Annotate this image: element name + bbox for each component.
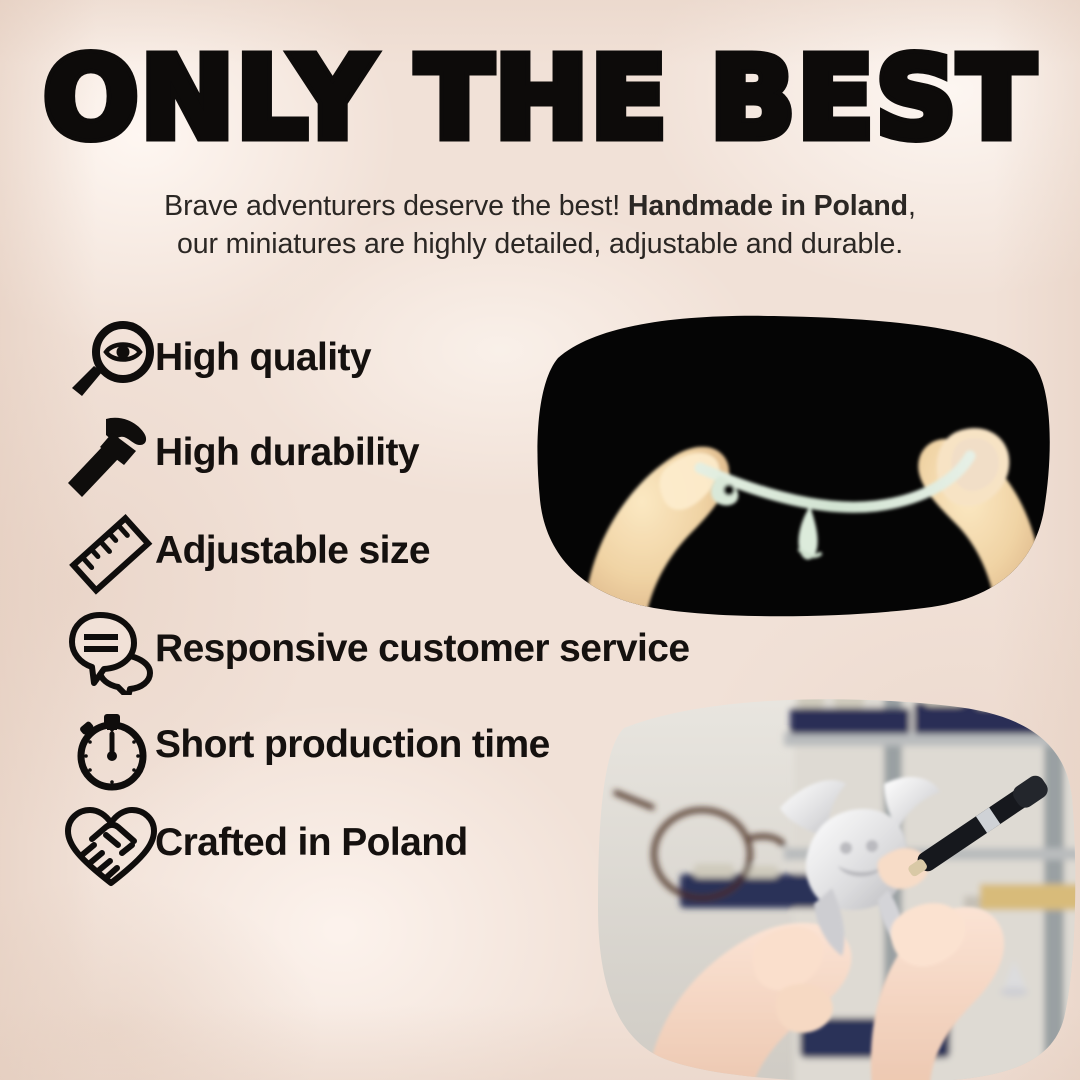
feature-item: High durability <box>0 415 800 512</box>
subtitle-line-1: Brave adventurers deserve the best! Hand… <box>60 187 1020 225</box>
feature-label: Responsive customer service <box>155 627 689 671</box>
feature-label: High quality <box>155 336 371 380</box>
subtitle-bold: Handmade in Poland <box>628 190 908 222</box>
feature-item: Crafted in Poland <box>0 803 800 900</box>
speech-bubbles-icon <box>66 611 160 695</box>
hammer-icon <box>62 413 158 501</box>
promo-poster: .hl{font-family:"DejaVu Sans", sans-seri… <box>0 0 1080 1080</box>
feature-item: Adjustable size <box>0 512 800 609</box>
heart-handshake-icon <box>62 805 160 889</box>
feature-item: High quality <box>0 318 800 415</box>
subtitle-line-2: our miniatures are highly detailed, adju… <box>60 225 1020 263</box>
subtitle: Brave adventurers deserve the best! Hand… <box>60 187 1020 263</box>
feature-label: Adjustable size <box>155 529 430 573</box>
magnifier-eye-icon <box>66 320 160 404</box>
feature-label: Crafted in Poland <box>155 821 468 865</box>
feature-label: High durability <box>155 431 419 475</box>
subtitle-tail: , <box>908 190 916 222</box>
stopwatch-icon <box>66 706 158 792</box>
subtitle-lead: Brave adventurers deserve the best! <box>164 190 628 222</box>
feature-label: Short production time <box>155 723 550 767</box>
page-title: .hl{font-family:"DejaVu Sans", sans-seri… <box>0 34 1080 164</box>
feature-item: Short production time <box>0 706 800 803</box>
feature-list: High quality High durability <box>0 318 800 900</box>
ruler-icon <box>62 512 158 598</box>
background-wash <box>0 880 320 1080</box>
feature-item: Responsive customer service <box>0 609 800 706</box>
